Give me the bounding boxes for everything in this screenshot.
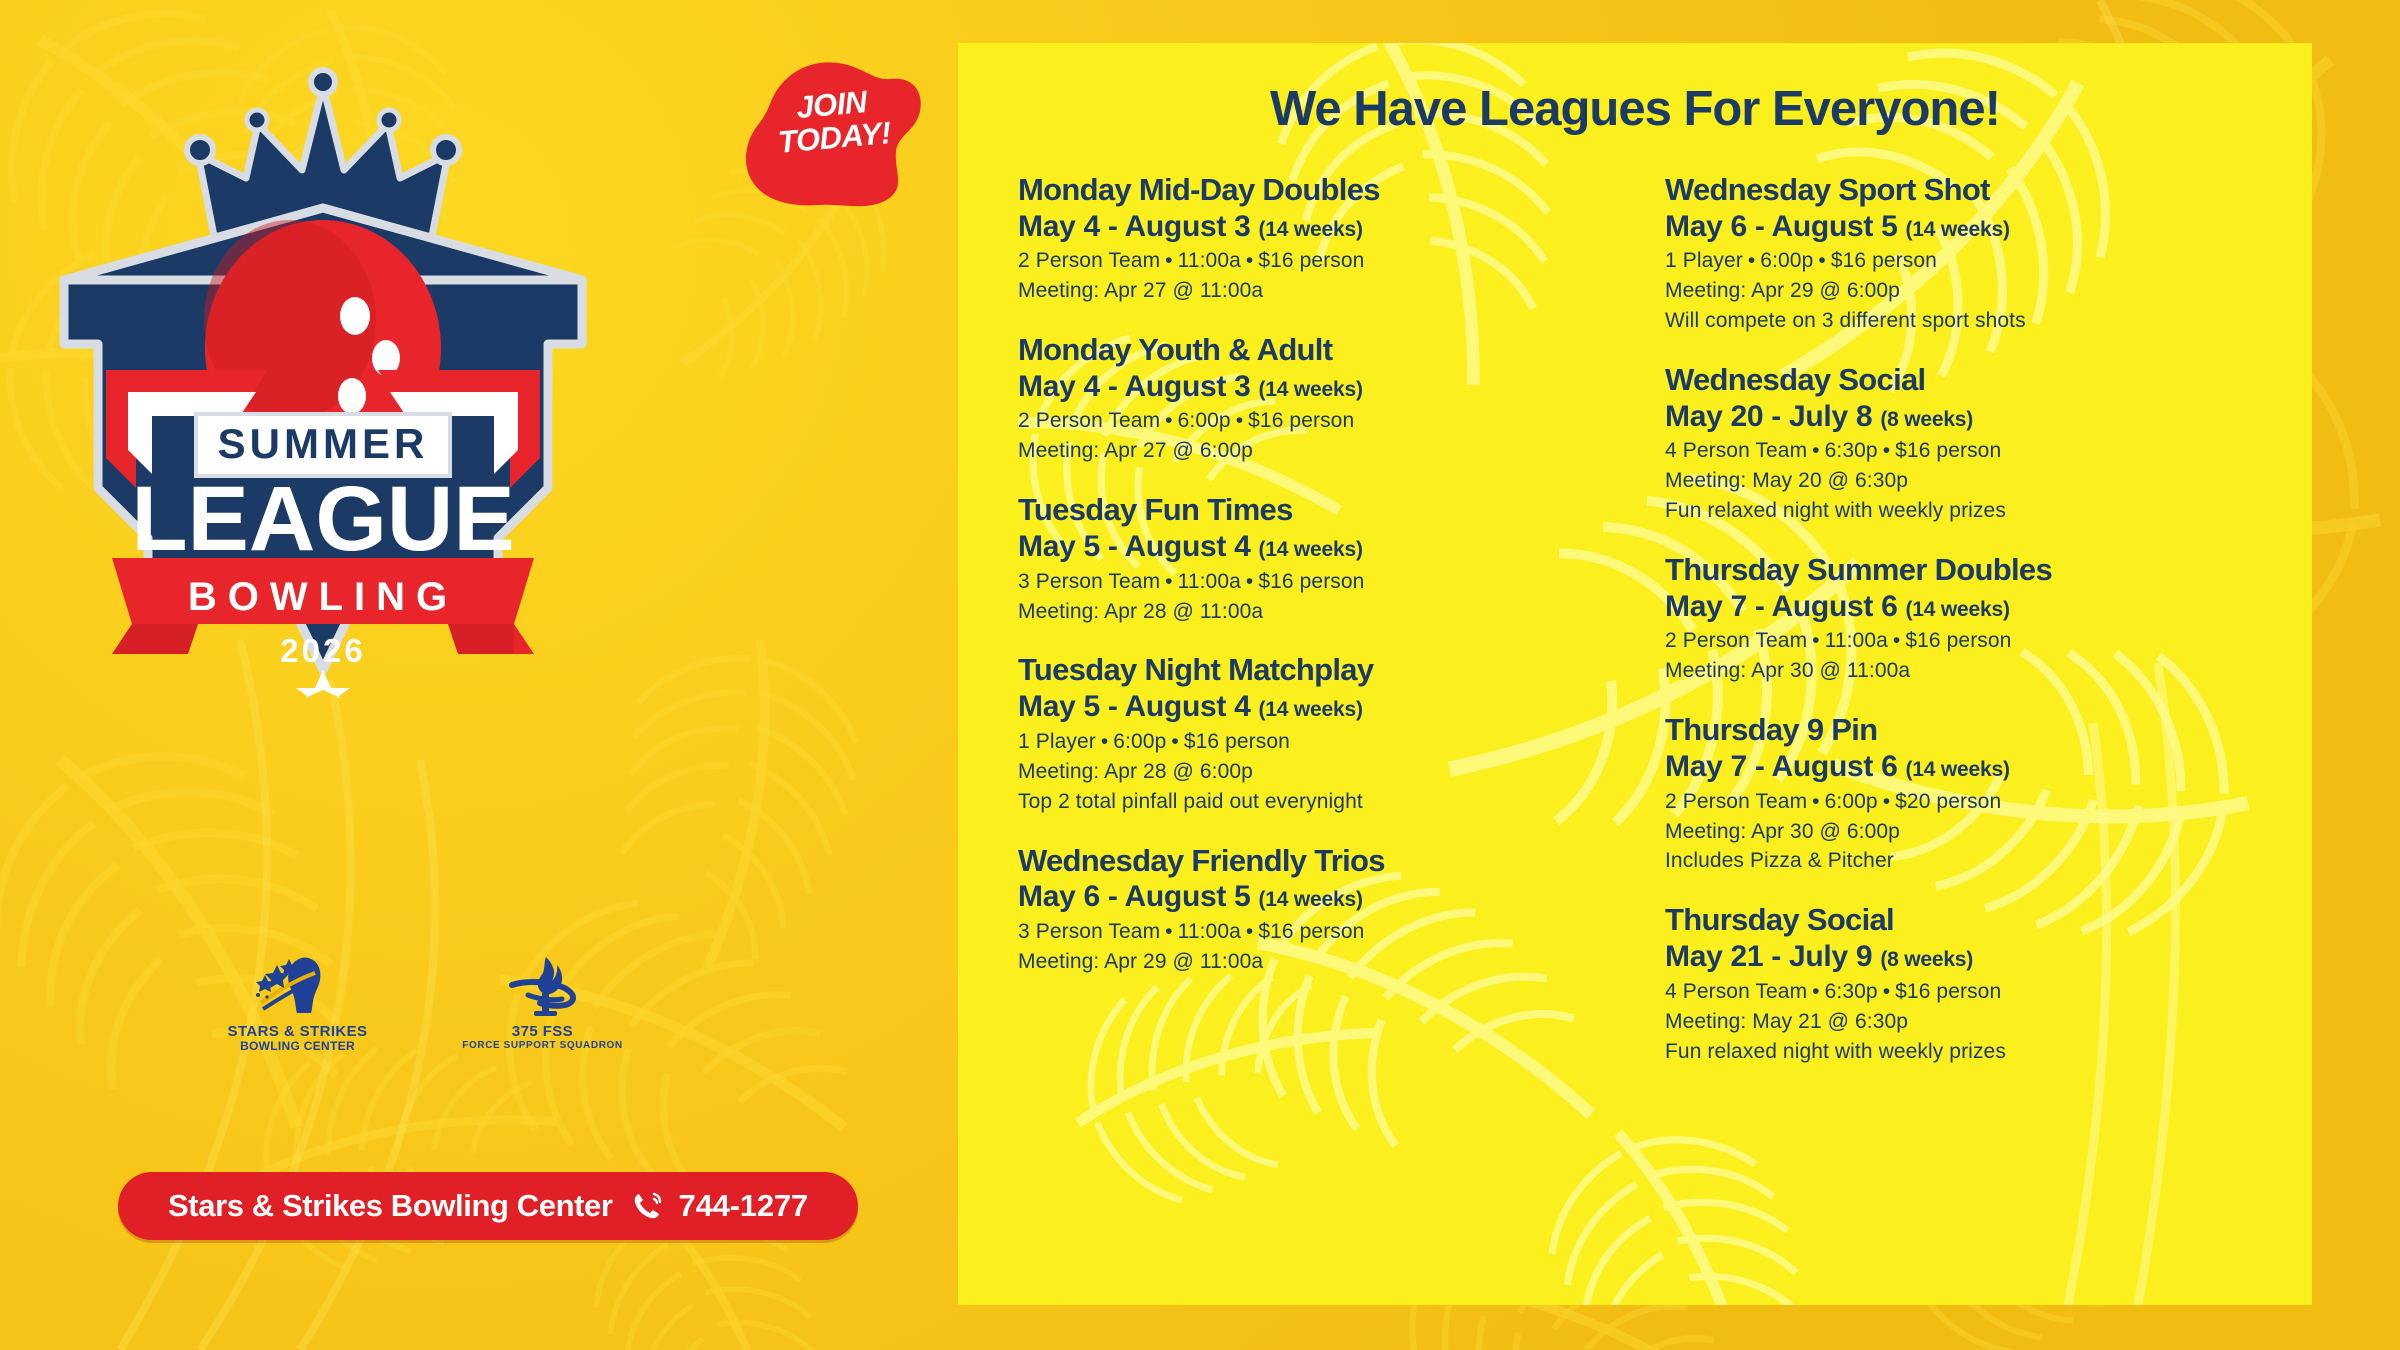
league-weeks: (14 weeks): [1259, 218, 1363, 241]
leagues-panel: We Have Leagues For Everyone! Monday Mid…: [958, 43, 2312, 1305]
partner-name: STARS & STRIKES: [210, 1023, 385, 1040]
league-price: $16 person: [1248, 409, 1354, 432]
league-meta: 2 Person Team•6:00p•$20 person: [1665, 788, 2278, 816]
partner-stars-and-strikes: STARS & STRIKES BOWLING CENTER: [210, 955, 385, 1054]
league-team-size: 4 Person Team: [1665, 980, 1807, 1003]
league-date-range: May 21 - July 9: [1665, 940, 1872, 973]
leagues-columns: Monday Mid-Day Doubles May 4 - August 3 …: [1018, 173, 2278, 1065]
league-name: Thursday Summer Doubles: [1665, 553, 2278, 588]
league-note: Includes Pizza & Pitcher: [1665, 847, 2278, 875]
league-meta: 1 Player•6:00p•$16 person: [1665, 247, 2278, 275]
league-item[interactable]: Monday Youth & Adult May 4 - August 3 (1…: [1018, 333, 1631, 465]
leagues-column-left: Monday Mid-Day Doubles May 4 - August 3 …: [1018, 173, 1631, 1065]
league-team-size: 2 Person Team: [1665, 790, 1807, 813]
league-item[interactable]: Wednesday Sport Shot May 6 - August 5 (1…: [1665, 173, 2278, 335]
league-dates: May 6 - August 5 (14 weeks): [1665, 209, 2278, 246]
league-weeks: (14 weeks): [1259, 378, 1363, 401]
league-meta: 4 Person Team•6:30p•$16 person: [1665, 437, 2278, 465]
league-weeks: (14 weeks): [1906, 758, 2010, 781]
league-time: 11:00a: [1178, 249, 1241, 272]
logo-summer-text: SUMMER: [218, 420, 429, 467]
league-price: $16 person: [1258, 570, 1364, 593]
league-name: Wednesday Sport Shot: [1665, 173, 2278, 208]
league-item[interactable]: Tuesday Fun Times May 5 - August 4 (14 w…: [1018, 493, 1631, 625]
partner-subtitle: BOWLING CENTER: [210, 1040, 385, 1054]
league-date-range: May 7 - August 6: [1665, 590, 1897, 623]
league-note: Fun relaxed night with weekly prizes: [1665, 497, 2278, 525]
star-icon: [296, 670, 350, 698]
torch-flame-icon: [455, 955, 630, 1017]
partner-logos: STARS & STRIKES BOWLING CENTER 375 FSS F…: [210, 955, 630, 1080]
partner-name: 375 FSS: [455, 1023, 630, 1040]
league-time: 11:00a: [1825, 629, 1888, 652]
league-dates: May 5 - August 4 (14 weeks): [1018, 529, 1631, 566]
league-meta: 2 Person Team•11:00a•$16 person: [1665, 627, 2278, 655]
league-name: Thursday 9 Pin: [1665, 713, 2278, 748]
league-time: 6:00p: [1760, 249, 1813, 272]
contact-center-name: Stars & Strikes Bowling Center: [168, 1188, 613, 1224]
league-price: $16 person: [1831, 249, 1937, 272]
league-item[interactable]: Thursday Summer Doubles May 7 - August 6…: [1665, 553, 2278, 685]
contact-phone-number[interactable]: 744-1277: [679, 1188, 808, 1224]
league-date-range: May 6 - August 5: [1018, 880, 1250, 913]
league-note: Will compete on 3 different sport shots: [1665, 307, 2278, 335]
hero-left-panel: JOIN TODAY!: [0, 0, 958, 1350]
league-name: Tuesday Fun Times: [1018, 493, 1631, 528]
league-team-size: 3 Person Team: [1018, 920, 1160, 943]
league-team-size: 4 Person Team: [1665, 439, 1807, 462]
league-dates: May 7 - August 6 (14 weeks): [1665, 589, 2278, 626]
league-name: Wednesday Social: [1665, 363, 2278, 398]
contact-banner[interactable]: Stars & Strikes Bowling Center 744-1277: [118, 1172, 858, 1240]
league-price: $20 person: [1895, 790, 2001, 813]
league-date-range: May 4 - August 3: [1018, 370, 1250, 403]
league-meeting: Meeting: Apr 28 @ 6:00p: [1018, 758, 1631, 786]
bowling-pin-stars-icon: [210, 955, 385, 1017]
league-meeting: Meeting: May 21 @ 6:30p: [1665, 1008, 2278, 1036]
league-item[interactable]: Thursday Social May 21 - July 9 (8 weeks…: [1665, 903, 2278, 1065]
league-weeks: (8 weeks): [1880, 408, 1973, 431]
league-time: 6:30p: [1825, 439, 1878, 462]
logo-year-text: 2026: [280, 632, 365, 669]
league-dates: May 4 - August 3 (14 weeks): [1018, 369, 1631, 406]
league-name: Monday Youth & Adult: [1018, 333, 1631, 368]
league-meeting: Meeting: Apr 27 @ 11:00a: [1018, 277, 1631, 305]
league-team-size: 1 Player: [1665, 249, 1743, 272]
league-team-size: 2 Person Team: [1018, 249, 1160, 272]
league-team-size: 3 Person Team: [1018, 570, 1160, 593]
league-dates: May 7 - August 6 (14 weeks): [1665, 749, 2278, 786]
league-time: 6:00p: [1113, 730, 1166, 753]
league-weeks: (14 weeks): [1906, 598, 2010, 621]
page-title: We Have Leagues For Everyone!: [958, 81, 2312, 137]
league-meta: 2 Person Team•6:00p•$16 person: [1018, 407, 1631, 435]
partner-375-fss: 375 FSS FORCE SUPPORT SQUADRON: [455, 955, 630, 1052]
league-note: Fun relaxed night with weekly prizes: [1665, 1038, 2278, 1066]
league-date-range: May 7 - August 6: [1665, 750, 1897, 783]
join-today-badge[interactable]: JOIN TODAY!: [738, 55, 928, 210]
league-meta: 2 Person Team•11:00a•$16 person: [1018, 247, 1631, 275]
league-time: 6:00p: [1178, 409, 1231, 432]
league-dates: May 5 - August 4 (14 weeks): [1018, 689, 1631, 726]
league-time: 6:30p: [1825, 980, 1878, 1003]
league-date-range: May 5 - August 4: [1018, 530, 1250, 563]
league-price: $16 person: [1895, 980, 2001, 1003]
league-meeting: Meeting: Apr 30 @ 11:00a: [1665, 657, 2278, 685]
league-weeks: (14 weeks): [1259, 698, 1363, 721]
league-meeting: Meeting: May 20 @ 6:30p: [1665, 467, 2278, 495]
league-price: $16 person: [1258, 920, 1364, 943]
league-date-range: May 5 - August 4: [1018, 690, 1250, 723]
league-price: $16 person: [1184, 730, 1290, 753]
league-name: Wednesday Friendly Trios: [1018, 844, 1631, 879]
league-dates: May 6 - August 5 (14 weeks): [1018, 879, 1631, 916]
league-meeting: Meeting: Apr 29 @ 6:00p: [1665, 277, 2278, 305]
league-note: Top 2 total pinfall paid out everynight: [1018, 788, 1631, 816]
league-item[interactable]: Thursday 9 Pin May 7 - August 6 (14 week…: [1665, 713, 2278, 875]
league-date-range: May 6 - August 5: [1665, 210, 1897, 243]
summer-league-bowling-logo: SUMMER LEAGUE BOWLING 2026: [28, 58, 618, 698]
league-team-size: 2 Person Team: [1018, 409, 1160, 432]
logo-bowling-text: BOWLING: [188, 575, 458, 619]
partner-subtitle: FORCE SUPPORT SQUADRON: [455, 1040, 630, 1052]
league-weeks: (14 weeks): [1259, 538, 1363, 561]
league-weeks: (8 weeks): [1880, 948, 1973, 971]
league-meta: 3 Person Team•11:00a•$16 person: [1018, 918, 1631, 946]
league-dates: May 4 - August 3 (14 weeks): [1018, 209, 1631, 246]
leagues-column-right: Wednesday Sport Shot May 6 - August 5 (1…: [1665, 173, 2278, 1065]
phone-icon: [629, 1189, 663, 1223]
league-time: 11:00a: [1178, 570, 1241, 593]
league-dates: May 20 - July 8 (8 weeks): [1665, 399, 2278, 436]
league-meeting: Meeting: Apr 30 @ 6:00p: [1665, 818, 2278, 846]
league-team-size: 2 Person Team: [1665, 629, 1807, 652]
league-meta: 4 Person Team•6:30p•$16 person: [1665, 978, 2278, 1006]
league-price: $16 person: [1258, 249, 1364, 272]
league-time: 6:00p: [1825, 790, 1878, 813]
league-item[interactable]: Wednesday Social May 20 - July 8 (8 week…: [1665, 363, 2278, 525]
league-item[interactable]: Wednesday Friendly Trios May 6 - August …: [1018, 844, 1631, 976]
league-weeks: (14 weeks): [1906, 218, 2010, 241]
league-name: Tuesday Night Matchplay: [1018, 653, 1631, 688]
league-meta: 1 Player•6:00p•$16 person: [1018, 728, 1631, 756]
league-meeting: Meeting: Apr 27 @ 6:00p: [1018, 437, 1631, 465]
league-meeting: Meeting: Apr 29 @ 11:00a: [1018, 948, 1631, 976]
league-date-range: May 20 - July 8: [1665, 400, 1872, 433]
logo-league-text: LEAGUE: [131, 468, 514, 570]
league-name: Thursday Social: [1665, 903, 2278, 938]
league-time: 11:00a: [1178, 920, 1241, 943]
league-meta: 3 Person Team•11:00a•$16 person: [1018, 568, 1631, 596]
league-team-size: 1 Player: [1018, 730, 1096, 753]
league-name: Monday Mid-Day Doubles: [1018, 173, 1631, 208]
league-item[interactable]: Monday Mid-Day Doubles May 4 - August 3 …: [1018, 173, 1631, 305]
league-item[interactable]: Tuesday Night Matchplay May 5 - August 4…: [1018, 653, 1631, 815]
league-dates: May 21 - July 9 (8 weeks): [1665, 939, 2278, 976]
league-price: $16 person: [1905, 629, 2011, 652]
league-price: $16 person: [1895, 439, 2001, 462]
league-weeks: (14 weeks): [1259, 888, 1363, 911]
league-meeting: Meeting: Apr 28 @ 11:00a: [1018, 598, 1631, 626]
league-date-range: May 4 - August 3: [1018, 210, 1250, 243]
